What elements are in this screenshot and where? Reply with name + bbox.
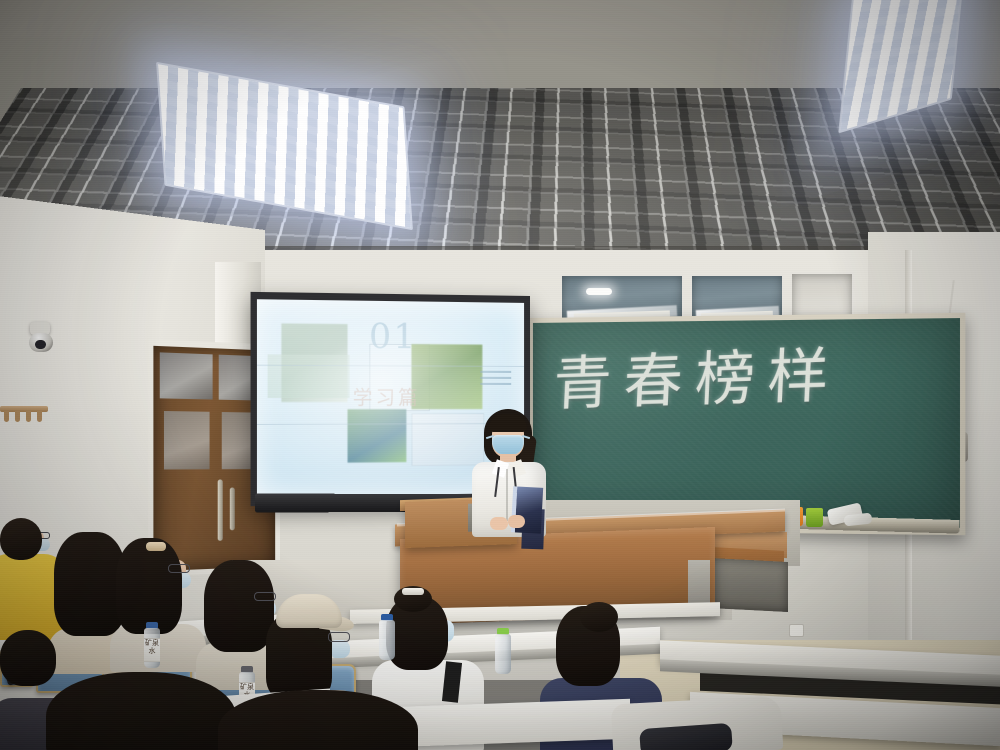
lecture-desk-shelf — [710, 558, 788, 612]
bottle-label-line1: 矿泉 — [144, 639, 160, 647]
presenter-fringe — [489, 414, 527, 432]
baseball-cap — [276, 594, 342, 628]
stage-side-panel — [688, 560, 710, 606]
classroom-photo: 青春榜样 01 学习篇 — [0, 0, 1000, 750]
attendee-hair-clip — [146, 542, 166, 551]
presenter-shirt-placket — [506, 469, 508, 521]
attendee-face-mask — [332, 640, 350, 658]
attendee-foreground-left — [46, 672, 236, 750]
wall-outlet[interactable] — [789, 624, 804, 637]
bottle-label-line2: 水 — [144, 647, 160, 655]
camera-lens — [35, 340, 46, 349]
attendee-foreground-center — [218, 690, 418, 750]
security-camera-icon — [26, 322, 56, 356]
presenter-hand — [490, 517, 508, 530]
door-handle[interactable] — [218, 479, 223, 540]
attendee-hair — [116, 538, 182, 634]
blackboard-chalk-text: 青春榜样 — [552, 343, 895, 413]
attendee-hair — [46, 672, 236, 750]
door-handle-secondary[interactable] — [230, 487, 235, 530]
attendee-hair — [218, 690, 418, 750]
presenter-face-mask — [492, 435, 524, 455]
bottle-label: 矿泉 水 — [144, 638, 160, 662]
attendee-hair-bun — [580, 602, 618, 632]
presenter-speaker — [466, 409, 552, 534]
bottle-body — [379, 620, 395, 660]
green-cup[interactable] — [806, 508, 823, 527]
attendee-glasses — [328, 632, 350, 642]
attendee-hair — [0, 518, 42, 560]
bottle-body — [495, 634, 511, 674]
presenter-hand — [508, 515, 525, 528]
coat-hook-rail[interactable] — [0, 406, 48, 426]
attendee-glasses — [168, 564, 190, 573]
attendee-hair-clip — [402, 588, 424, 595]
window-lamp-icon — [586, 288, 612, 295]
